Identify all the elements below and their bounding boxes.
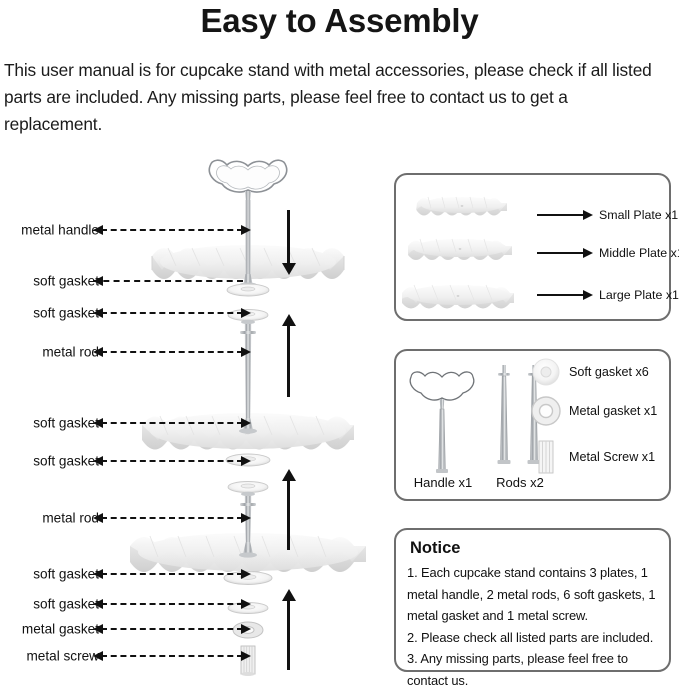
label-soft-gasket-1: soft gasket [33,274,99,289]
notice-title: Notice [410,539,460,558]
panel-plate-large [402,285,514,309]
exploded-diagram: metal handle soft gasket soft gasket met… [0,150,392,677]
soft-gasket-top-plate [227,284,269,296]
label-soft-gasket-6: soft gasket [33,597,99,612]
panel-plate-small [416,197,507,216]
connector-metal-rod-1 [93,351,251,353]
parts-metal-gasket-icon [532,397,560,425]
connector-metal-screw [93,655,251,657]
label-soft-gasket-2: soft gasket [33,306,99,321]
label-large-plate: Large Plate x1 [599,288,679,302]
soft-gasket-below-middle [228,482,268,493]
label-metal-rod-2: metal rod [42,511,99,526]
connector-metal-gasket [93,628,251,630]
panel-notice: Notice 1. Each cupcake stand contains 3 … [394,528,671,672]
parts-metal-screw-icon [539,441,553,473]
manual-page: Easy to Assembly This user manual is for… [0,0,679,677]
label-soft-gasket-3: soft gasket [33,416,99,431]
connector-metal-handle [93,229,251,231]
arrow-small-plate [537,214,593,216]
page-title: Easy to Assembly [0,2,679,40]
label-metal-gasket-count: Metal gasket x1 [569,404,657,418]
connector-soft-gasket-5 [93,573,251,575]
panel-plates: Small Plate x1 Middle Plate x1 Large Pla… [394,173,671,321]
connector-soft-gasket-3 [93,422,251,424]
connector-metal-rod-2 [93,517,251,519]
caption-rods: Rods x2 [496,475,544,490]
caption-handle: Handle x1 [414,475,473,490]
label-metal-screw: metal screw [26,649,99,664]
label-soft-gasket-count: Soft gasket x6 [569,365,649,379]
label-middle-plate: Middle Plate x1 [599,246,679,260]
motion-arrow-up-1 [287,325,290,397]
label-metal-screw-count: Metal Screw x1 [569,450,655,464]
notice-line-2: 2. Please check all listed parts are inc… [407,627,665,649]
connector-soft-gasket-1 [93,280,251,282]
notice-line-1: 1. Each cupcake stand contains 3 plates,… [407,562,665,627]
label-metal-handle: metal handle [21,223,99,238]
panel-plate-middle [408,239,512,260]
connector-soft-gasket-2 [93,312,251,314]
motion-arrow-down-1 [287,210,290,264]
motion-arrow-up-3 [287,600,290,670]
notice-body: 1. Each cupcake stand contains 3 plates,… [407,562,665,691]
connector-soft-gasket-4 [93,460,251,462]
notice-line-3: 3. Any missing parts, please feel free t… [407,648,665,691]
arrow-large-plate [537,294,593,296]
intro-paragraph: This user manual is for cupcake stand wi… [4,57,670,138]
panel-parts: Handle x1 Rods x2 Soft gasket x6 Metal g… [394,349,671,501]
parts-handle-icon [410,372,474,473]
label-metal-gasket: metal gasket [22,622,99,637]
label-metal-rod-1: metal rod [42,345,99,360]
parts-soft-gasket-icon [533,359,559,385]
label-soft-gasket-4: soft gasket [33,454,99,469]
label-soft-gasket-5: soft gasket [33,567,99,582]
plates-illustration [402,179,562,319]
motion-arrow-up-2 [287,480,290,550]
label-small-plate: Small Plate x1 [599,208,678,222]
parts-rod-icon-1 [498,365,511,464]
connector-soft-gasket-6 [93,603,251,605]
arrow-middle-plate [537,252,593,254]
